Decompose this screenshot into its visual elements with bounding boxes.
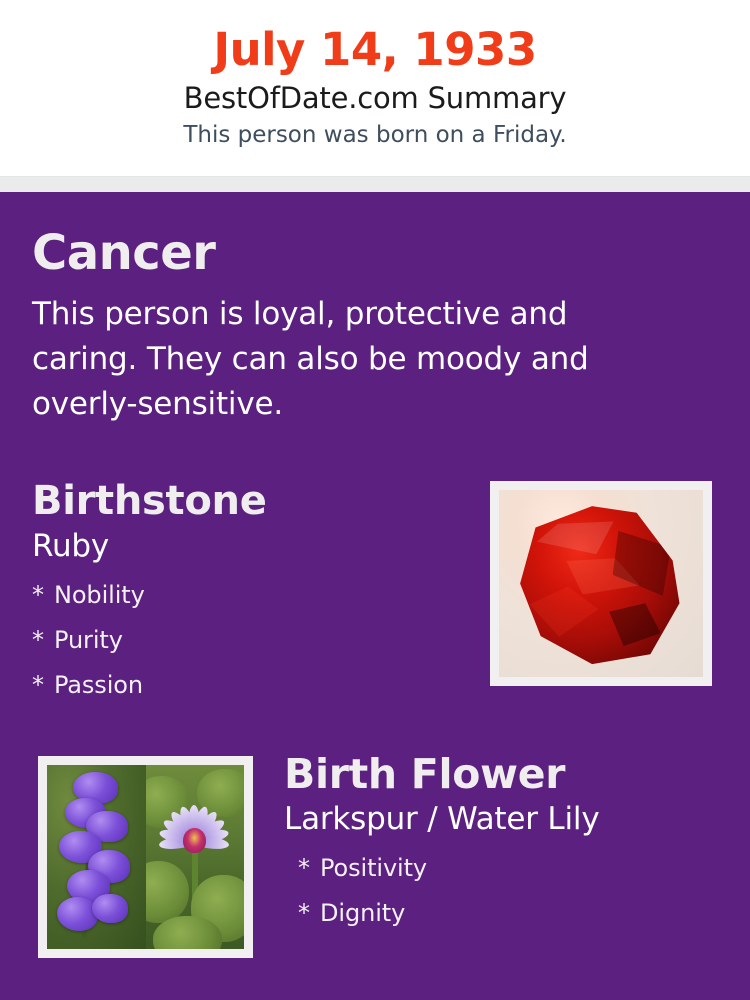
- birthstone-trait-label: Purity: [54, 626, 123, 654]
- zodiac-sign-title: Cancer: [32, 192, 718, 280]
- bullet-star-icon: *: [298, 891, 320, 936]
- summary-card: July 14, 1933 BestOfDate.com Summary Thi…: [0, 0, 750, 1000]
- ruby-facet: [535, 515, 619, 563]
- birthstone-text: Birthstone Ruby *Nobility *Purity *Passi…: [32, 477, 462, 708]
- ruby-facet: [613, 531, 671, 607]
- card-header: July 14, 1933 BestOfDate.com Summary Thi…: [0, 0, 750, 176]
- birth-flower-trait-label: Positivity: [320, 854, 427, 882]
- ruby-facet: [609, 603, 660, 646]
- lily-center: [183, 828, 206, 853]
- birth-flower-trait-label: Dignity: [320, 899, 405, 927]
- birth-flower-text: Birth Flower Larkspur / Water Lily *Posi…: [284, 750, 718, 936]
- bullet-star-icon: *: [32, 618, 54, 663]
- bullet-star-icon: *: [298, 846, 320, 891]
- birthstone-section: Birthstone Ruby *Nobility *Purity *Passi…: [32, 477, 718, 708]
- birth-flower-title: Birth Flower: [284, 750, 718, 798]
- bullet-star-icon: *: [32, 663, 54, 708]
- larkspur-icon: [47, 765, 146, 949]
- site-name: BestOfDate.com Summary: [0, 78, 750, 118]
- bullet-star-icon: *: [32, 573, 54, 618]
- birthstone-image-frame: [490, 481, 712, 686]
- list-item: *Dignity: [298, 891, 718, 936]
- zodiac-description: This person is loyal, protective and car…: [32, 280, 652, 427]
- birth-flower-section: Birth Flower Larkspur / Water Lily *Posi…: [32, 750, 718, 970]
- list-item: *Positivity: [298, 846, 718, 891]
- flower-split-photo: [47, 765, 244, 949]
- day-of-week-line: This person was born on a Friday.: [0, 118, 750, 152]
- ruby-stone-shape: [513, 501, 684, 666]
- birthstone-name: Ruby: [32, 525, 462, 567]
- header-divider: [0, 176, 750, 192]
- list-item: *Purity: [32, 618, 462, 663]
- birth-flower-image-frame: [38, 756, 253, 958]
- water-lily-icon: [146, 765, 245, 949]
- birthstone-trait-label: Passion: [54, 671, 143, 699]
- list-item: *Passion: [32, 663, 462, 708]
- details-panel: Cancer This person is loyal, protective …: [0, 192, 750, 1000]
- page-title-date: July 14, 1933: [0, 22, 750, 78]
- birthstone-trait-list: *Nobility *Purity *Passion: [32, 573, 462, 708]
- birthstone-image: [499, 490, 703, 677]
- birth-flower-image: [47, 765, 244, 949]
- birthstone-trait-label: Nobility: [54, 581, 145, 609]
- larkspur-bloom: [92, 894, 127, 923]
- lily-bloom: [159, 802, 230, 876]
- birth-flower-trait-list: *Positivity *Dignity: [298, 846, 718, 936]
- birthstone-title: Birthstone: [32, 477, 462, 525]
- list-item: *Nobility: [32, 573, 462, 618]
- ruby-crystal-icon: [499, 490, 703, 677]
- birth-flower-name: Larkspur / Water Lily: [284, 798, 718, 840]
